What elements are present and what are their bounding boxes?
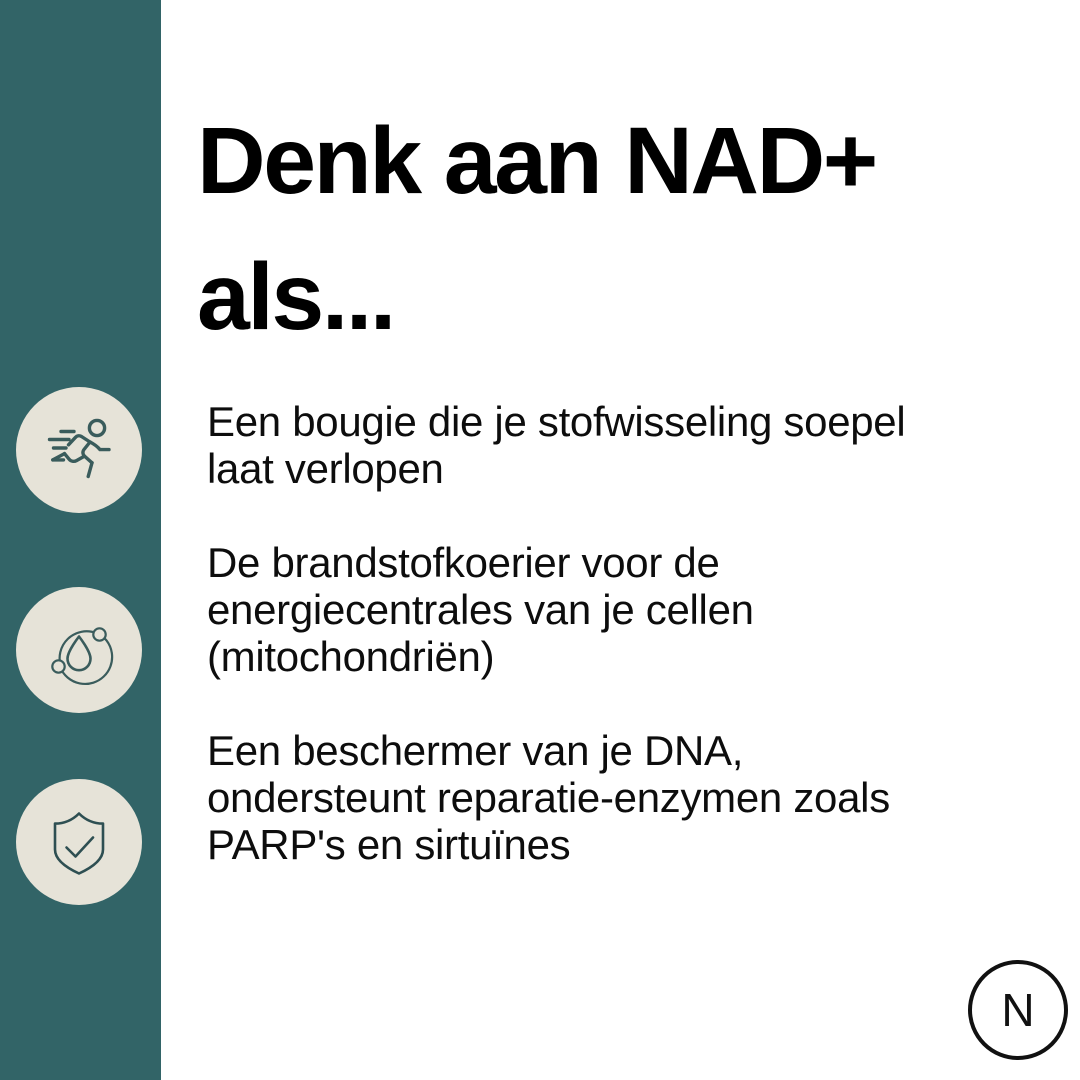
- benefit-list: Een bougie die je stofwisseling soepel l…: [207, 398, 967, 868]
- droplet-orbit-icon: [40, 611, 118, 689]
- shield-check-icon: [40, 803, 118, 881]
- icon-badge-dna-protection: [16, 779, 142, 905]
- list-item: Een beschermer van je DNA, ondersteunt r…: [207, 727, 967, 868]
- icon-badge-energy: [16, 587, 142, 713]
- list-item: De brandstofkoerier voor de energiecentr…: [207, 539, 967, 680]
- running-person-icon: [40, 411, 118, 489]
- sidebar-accent-band: [0, 0, 161, 1080]
- poster-canvas: Denk aan NAD+ als... Een bougie die je s…: [0, 0, 1080, 1080]
- page-title: Denk aan NAD+ als...: [197, 93, 1057, 365]
- list-item: Een bougie die je stofwisseling soepel l…: [207, 398, 967, 492]
- logo-letter: N: [968, 960, 1068, 1060]
- brand-logo: N: [968, 960, 1068, 1060]
- icon-badge-metabolism: [16, 387, 142, 513]
